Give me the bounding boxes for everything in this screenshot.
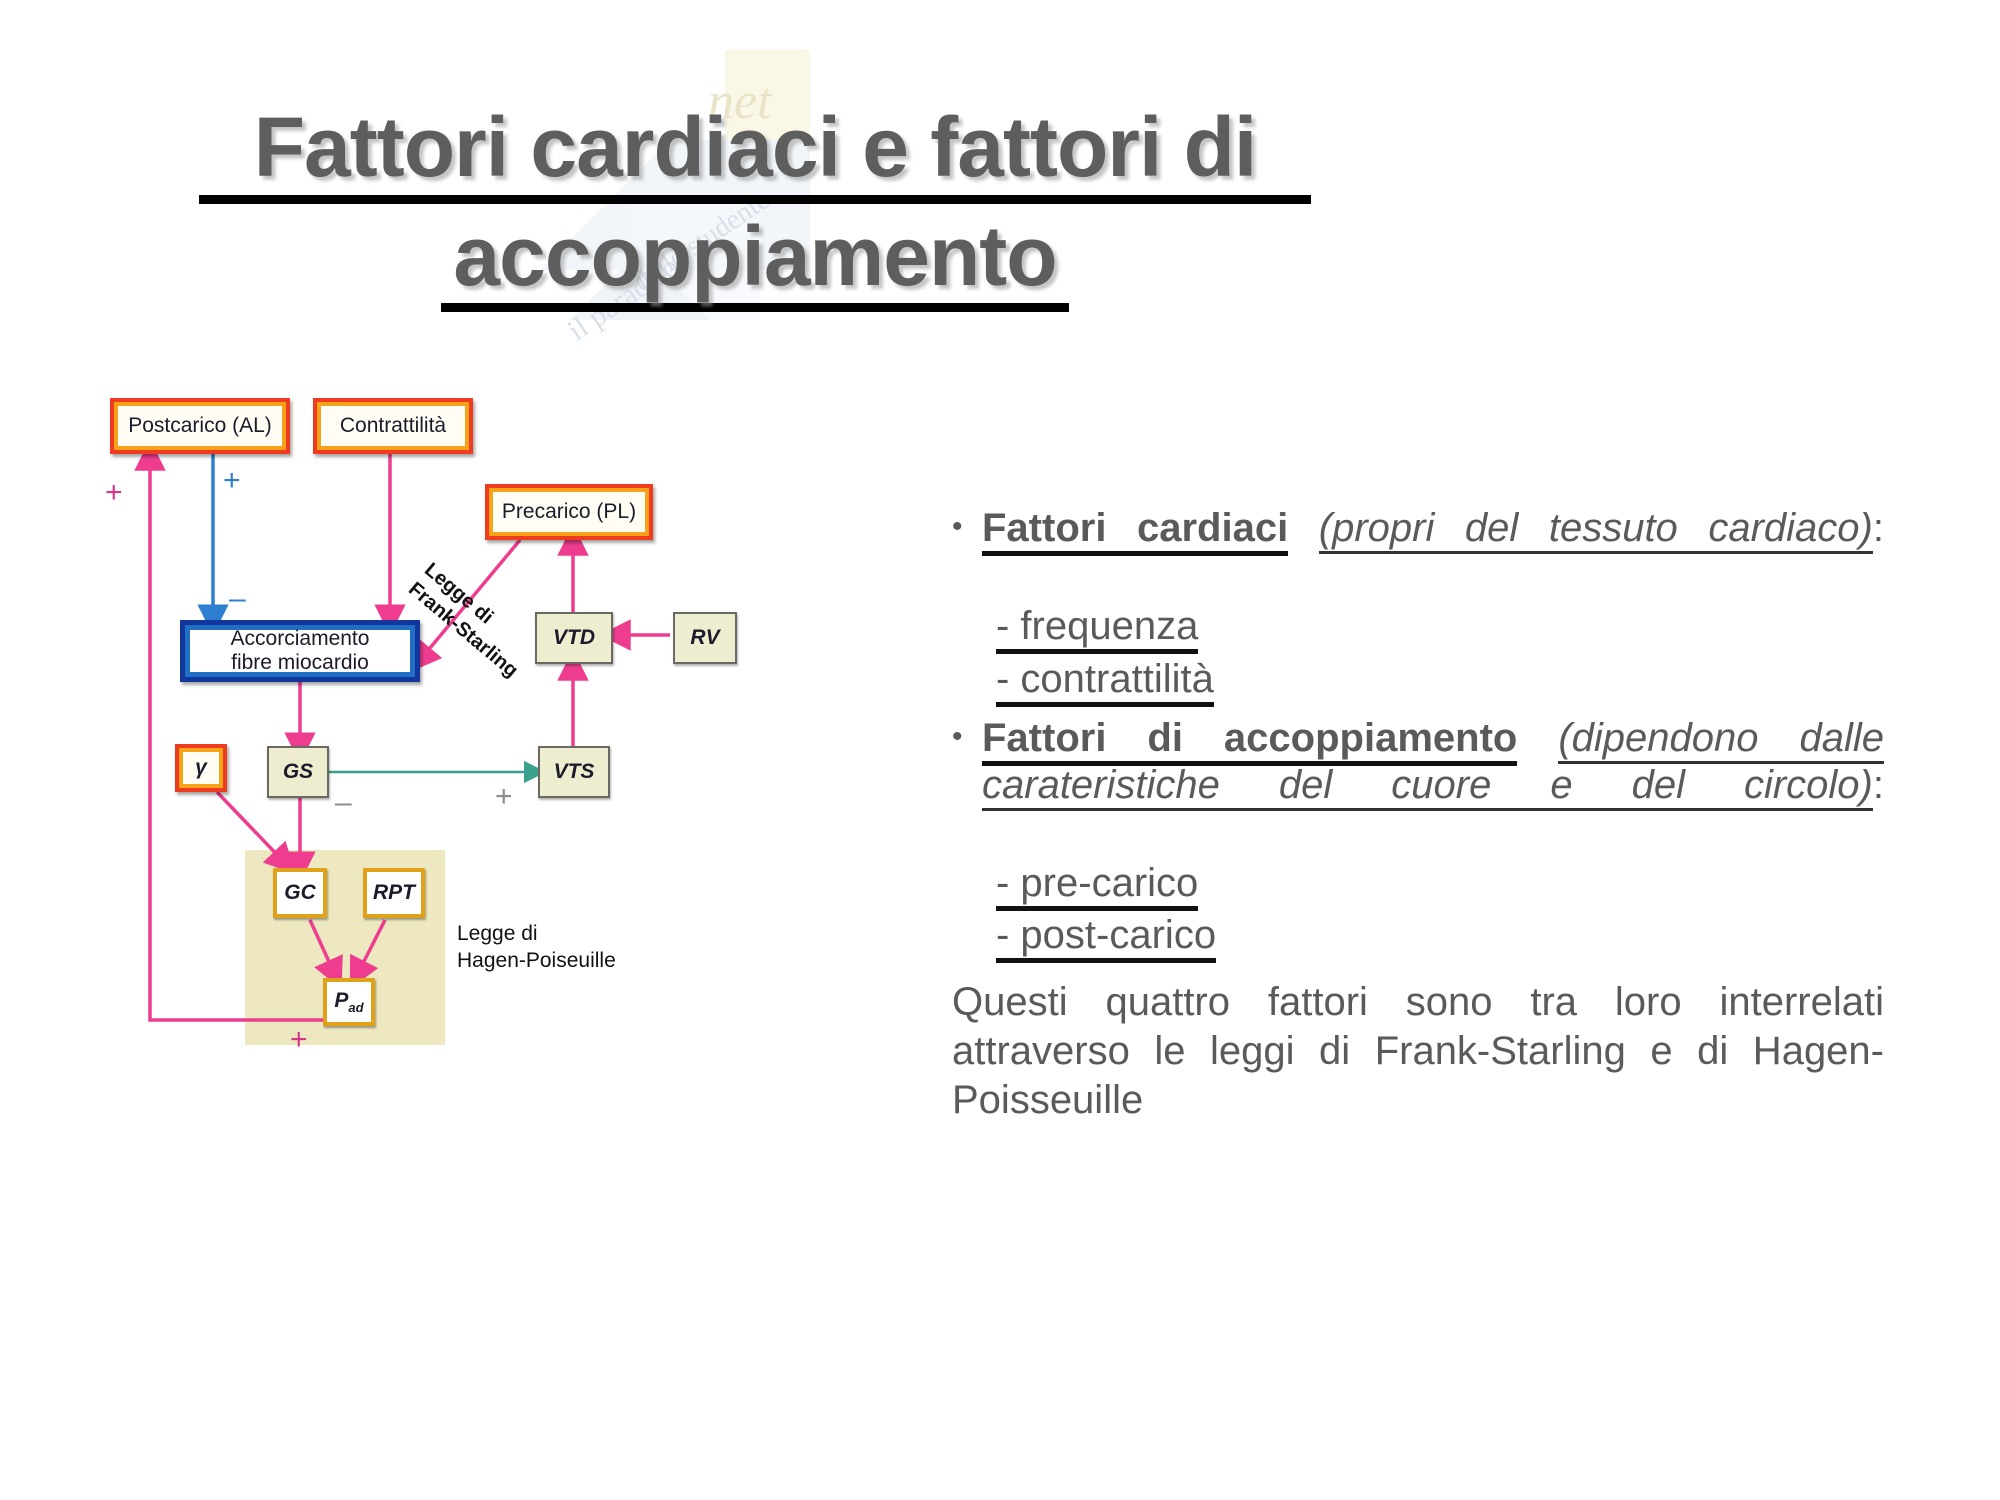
box-contrattilita-label: Contrattilità <box>340 414 446 438</box>
title-line-2-wrap: accoppiamento <box>190 214 1320 313</box>
content-column: • Fattori cardiaci (propri del tessuto c… <box>952 505 1884 1173</box>
box-vts-label: VTS <box>554 760 595 784</box>
sub-item-frequenza: - frequenza <box>996 600 1884 653</box>
bullet-item-accoppiamento: • Fattori di accoppiamento (dipendono da… <box>952 715 1884 854</box>
box-gamma[interactable]: γ <box>175 744 227 792</box>
page-title: Fattori cardiaci e fattori di accoppiame… <box>190 105 1320 322</box>
sign-minus-accorciamento: – <box>229 584 246 614</box>
box-gs[interactable]: GS <box>267 746 329 798</box>
box-gamma-label: γ <box>195 756 207 780</box>
box-rpt[interactable]: RPT <box>363 868 425 918</box>
bullet-body: Fattori cardiaci (propri del tessuto car… <box>982 505 1884 598</box>
bullet-marker: • <box>952 715 982 759</box>
box-pad-label: Pad <box>334 989 363 1015</box>
sign-plus-postcarico: + <box>223 466 241 496</box>
bullet-marker: • <box>952 505 982 549</box>
sub-item-post-carico: - post-carico <box>996 909 1884 962</box>
bullet-bold-cardiaci: Fattori cardiaci <box>982 506 1288 556</box>
box-vtd-label: VTD <box>553 626 595 650</box>
sub-item-pre-carico-label: - pre-carico <box>996 861 1198 911</box>
title-underline-2 <box>441 303 1069 312</box>
bullet-body: Fattori di accoppiamento (dipendono dall… <box>982 715 1884 854</box>
box-pad-sub: ad <box>348 1000 363 1015</box>
box-vtd[interactable]: VTD <box>535 612 613 664</box>
box-rpt-label: RPT <box>373 881 415 905</box>
bullet-bold-accoppiamento: Fattori di accoppiamento <box>982 716 1517 766</box>
box-postcarico-label: Postcarico (AL) <box>128 414 272 438</box>
sign-plus-far-left: + <box>105 478 123 508</box>
title-line-1: Fattori cardiaci e fattori di <box>190 105 1320 191</box>
title-line-2: accoppiamento <box>190 214 1320 300</box>
sub-item-contrattilita-label: - contrattilità <box>996 657 1214 707</box>
box-vts[interactable]: VTS <box>538 746 610 798</box>
box-precarico-label: Precarico (PL) <box>502 500 636 524</box>
label-hagen-poiseuille: Legge di Hagen-Poiseuille <box>457 920 616 975</box>
box-accorciamento[interactable]: Accorciamento fibre miocardio <box>180 620 420 682</box>
sub-item-pre-carico: - pre-carico <box>996 857 1884 910</box>
sub-item-post-carico-label: - post-carico <box>996 913 1216 963</box>
bullet-text: Fattori di accoppiamento (dipendono dall… <box>982 715 1884 854</box>
box-gc[interactable]: GC <box>273 868 327 918</box>
sign-plus-pad: + <box>290 1025 308 1055</box>
bullet-tail-accoppiamento: : <box>1873 763 1884 807</box>
box-postcarico[interactable]: Postcarico (AL) <box>110 398 290 454</box>
title-underline-1 <box>199 195 1311 204</box>
bullet-italic-cardiaci: (propri del tessuto cardiaco) <box>1319 506 1873 554</box>
label-hagen-line2: Hagen-Poiseuille <box>457 947 616 974</box>
sign-minus-gs: – <box>335 788 352 818</box>
box-rv[interactable]: RV <box>673 612 737 664</box>
sign-plus-vts: + <box>495 782 513 812</box>
box-pad-main: P <box>334 989 348 1012</box>
sub-item-frequenza-label: - frequenza <box>996 604 1198 654</box>
box-accorciamento-line1: Accorciamento <box>231 627 370 651</box>
bullet-item-cardiaci: • Fattori cardiaci (propri del tessuto c… <box>952 505 1884 598</box>
box-gs-label: GS <box>283 760 313 784</box>
box-precarico[interactable]: Precarico (PL) <box>485 484 653 540</box>
box-accorciamento-line2: fibre miocardio <box>231 651 369 675</box>
closing-paragraph: Questi quattro fattori sono tra loro int… <box>952 978 1884 1173</box>
box-gc-label: GC <box>284 881 316 905</box>
sub-item-contrattilita: - contrattilità <box>996 653 1884 706</box>
bullet-tail-cardiaci: : <box>1873 506 1884 550</box>
cardiac-factors-diagram: Postcarico (AL) Contrattilità Precarico … <box>95 380 835 1060</box>
label-hagen-line1: Legge di <box>457 920 616 947</box>
box-pad[interactable]: Pad <box>323 978 375 1026</box>
box-rv-label: RV <box>690 626 719 650</box>
bullet-text: Fattori cardiaci (propri del tessuto car… <box>982 505 1884 598</box>
box-contrattilita[interactable]: Contrattilità <box>313 398 473 454</box>
